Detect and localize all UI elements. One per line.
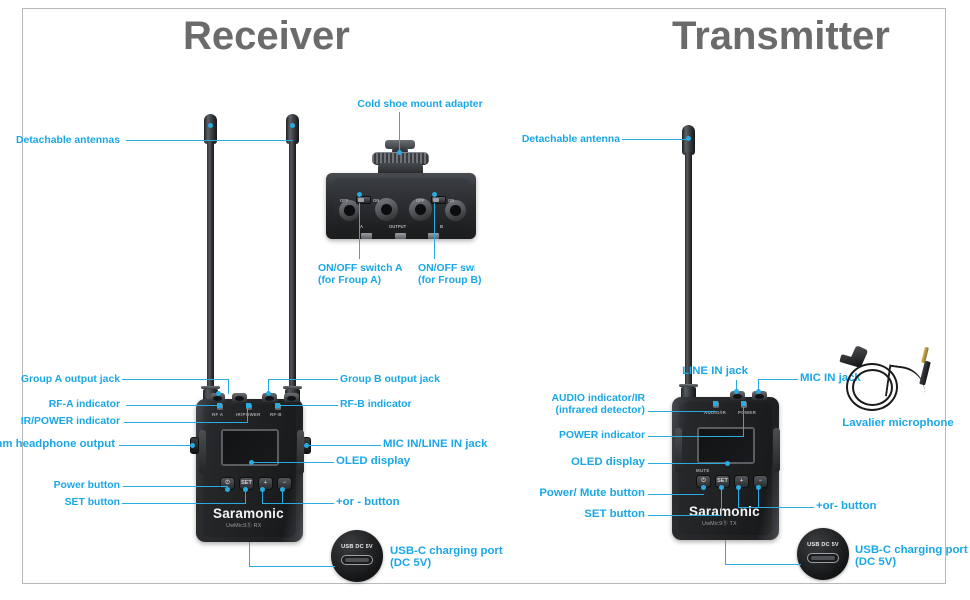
transmitter-print-mute: MUTE bbox=[696, 468, 710, 473]
receiver-antenna-left-rod bbox=[207, 140, 214, 390]
dot-antenna-left bbox=[208, 123, 213, 128]
dot-minus-button bbox=[280, 487, 285, 492]
dot-oled-transmitter bbox=[725, 461, 730, 466]
callout-ir-power-indicator: IR/POWER indicator bbox=[0, 416, 120, 428]
leader-power-mute bbox=[648, 494, 704, 495]
dot-ir-power-indicator bbox=[246, 403, 251, 408]
callout-audio-ir-line1: AUDIO indicator/IR bbox=[480, 393, 645, 405]
callout-detachable-antennas: Detachable antennas bbox=[0, 135, 120, 147]
leader-oled-transmitter bbox=[648, 463, 728, 464]
panel-print-on-b: ON bbox=[448, 198, 454, 203]
leader-detachable-antenna bbox=[622, 139, 688, 140]
leader-power-indicator-h bbox=[648, 436, 744, 437]
dot-antenna-right bbox=[290, 123, 295, 128]
callout-switch-a-line2: (for Froup A) bbox=[318, 275, 381, 287]
dot-group-b-jack bbox=[266, 391, 271, 396]
callout-rf-a-indicator: RF-A indicator bbox=[0, 399, 120, 411]
receiver-print-rf-b: RF-B bbox=[270, 412, 282, 417]
leader-plusminus-h bbox=[262, 503, 334, 504]
leader-cold-shoe bbox=[399, 112, 400, 154]
receiver-left-rail bbox=[199, 430, 206, 474]
callout-headphone-output: 3.5mm headphone output bbox=[0, 439, 115, 451]
leader-set-transmitter-h bbox=[648, 515, 722, 516]
transmitter-usb-c-badge: USB DC 5V bbox=[797, 528, 849, 580]
panel-foot-center bbox=[395, 233, 406, 239]
dot-headphone-jack bbox=[190, 443, 195, 448]
lavalier-plug-body bbox=[919, 361, 931, 386]
callout-audio-ir-line2: (infrared detector) bbox=[480, 405, 645, 417]
leader-mic-in-h bbox=[758, 379, 798, 380]
leader-plusminus-tx-v2 bbox=[758, 488, 759, 508]
leader-power-indicator-v bbox=[743, 407, 744, 437]
leader-set-transmitter-v bbox=[721, 488, 722, 516]
dot-switch-b bbox=[432, 192, 437, 197]
leader-group-b-h bbox=[268, 379, 338, 380]
transmitter-print-power: POWER bbox=[738, 410, 756, 415]
leader-usb-receiver-h bbox=[249, 566, 335, 567]
dot-group-a-jack bbox=[216, 391, 221, 396]
callout-rf-b-indicator: RF-B indicator bbox=[340, 399, 412, 411]
receiver-usb-c-badge: USB DC 5V bbox=[331, 530, 383, 582]
transmitter-left-rail bbox=[675, 428, 682, 472]
lavalier-microphone-image bbox=[838, 345, 958, 423]
transmitter-oled-display bbox=[697, 427, 755, 464]
panel-foot-left bbox=[361, 233, 372, 239]
leader-headphone bbox=[119, 445, 194, 446]
leader-group-a-h bbox=[122, 379, 229, 380]
callout-usb-port-receiver-line1: USB-C charging port bbox=[390, 546, 503, 558]
dot-set-button bbox=[243, 487, 248, 492]
leader-usb-transmitter-v bbox=[725, 540, 726, 565]
callout-plus-minus-button-transmitter: +or- button bbox=[816, 501, 876, 513]
callout-set-button-transmitter: SET button bbox=[510, 509, 645, 521]
panel-print-output: OUTPUT bbox=[389, 224, 406, 229]
panel-print-off-a: OFF bbox=[340, 198, 348, 203]
transmitter-model-print: UwMic9Ⓢ TX bbox=[702, 519, 737, 527]
dot-oled-receiver bbox=[249, 460, 254, 465]
transmitter-antenna-rod bbox=[685, 151, 692, 388]
dot-minus-button-transmitter bbox=[756, 485, 761, 490]
page-title-receiver: Receiver bbox=[183, 14, 350, 59]
callout-group-a-output-jack: Group A output jack bbox=[0, 374, 120, 386]
receiver-model-print: UwMic9Ⓢ RX bbox=[226, 521, 262, 529]
panel-print-a: A bbox=[360, 224, 363, 229]
callout-line-in-jack: LINE IN jack bbox=[655, 366, 775, 378]
callout-usb-port-receiver-line2: (DC 5V) bbox=[390, 558, 431, 570]
dot-power-mute-button bbox=[701, 485, 706, 490]
callout-usb-port-transmitter-line1: USB-C charging port bbox=[855, 545, 968, 557]
leader-rf-a bbox=[126, 405, 219, 406]
leader-switch-a bbox=[359, 203, 360, 259]
dot-set-button-transmitter bbox=[719, 485, 724, 490]
callout-set-button: SET button bbox=[0, 497, 120, 509]
dot-power-button bbox=[225, 487, 230, 492]
usb-badge-print-receiver: USB DC 5V bbox=[331, 544, 383, 550]
callout-mic-line-in-jack: MIC IN/LINE IN jack bbox=[383, 439, 487, 451]
receiver-group-b-output-jack-2[interactable] bbox=[284, 393, 299, 402]
usb-badge-print-transmitter: USB DC 5V bbox=[797, 542, 849, 548]
dot-audio-ir-indicator bbox=[713, 401, 718, 406]
receiver-right-rail bbox=[297, 430, 304, 474]
leader-plusminus-v2 bbox=[282, 490, 283, 504]
transmitter-oled-screen bbox=[699, 429, 753, 462]
dot-line-in-jack bbox=[734, 389, 739, 394]
callout-switch-b-line2: (for Froup B) bbox=[418, 275, 481, 287]
receiver-brand-logo: Saramonic bbox=[213, 506, 284, 521]
callout-power-button: Power button bbox=[0, 480, 120, 492]
dot-rf-b-indicator bbox=[275, 403, 280, 408]
leader-audio-ir bbox=[648, 411, 716, 412]
dot-mic-line-in-jack bbox=[304, 443, 309, 448]
leader-rf-b bbox=[280, 405, 338, 406]
leader-plusminus-tx-h bbox=[738, 507, 814, 508]
callout-plus-minus-button-receiver: +or - button bbox=[336, 497, 400, 509]
callout-usb-port-transmitter-line2: (DC 5V) bbox=[855, 557, 896, 569]
transmitter-usb-c-port[interactable] bbox=[807, 553, 839, 563]
leader-ir-power-v bbox=[247, 408, 248, 423]
receiver-print-rf-a: RF A bbox=[212, 412, 223, 417]
leader-usb-transmitter-h bbox=[725, 564, 801, 565]
receiver-antenna-right-rod bbox=[289, 140, 296, 390]
receiver-oled-screen bbox=[223, 431, 277, 464]
dot-cold-shoe bbox=[397, 150, 402, 155]
dot-plus-button bbox=[260, 487, 265, 492]
callout-cold-shoe-mount: Cold shoe mount adapter bbox=[300, 99, 540, 111]
leader-oled-receiver bbox=[252, 462, 334, 463]
dot-plus-button-transmitter bbox=[736, 485, 741, 490]
callout-oled-display-transmitter: OLED display bbox=[500, 457, 645, 469]
dot-transmitter-antenna bbox=[686, 136, 691, 141]
leader-power-button bbox=[123, 486, 228, 487]
callout-switch-a-line1: ON/OFF switch A bbox=[318, 263, 402, 275]
receiver-usb-c-port[interactable] bbox=[341, 555, 373, 565]
dot-mic-in-jack bbox=[756, 389, 761, 394]
product-diagram-canvas: Receiver Transmitter Detachable antennas… bbox=[0, 0, 970, 600]
callout-group-b-output-jack: Group B output jack bbox=[340, 374, 440, 386]
callout-oled-display-receiver: OLED display bbox=[336, 456, 410, 468]
dot-rf-a-indicator bbox=[217, 403, 222, 408]
callout-power-indicator: POWER indicator bbox=[490, 430, 645, 442]
receiver-group-a-output-jack-2[interactable] bbox=[232, 393, 247, 402]
leader-group-a-v bbox=[228, 379, 229, 394]
leader-switch-b bbox=[434, 203, 435, 259]
leader-detachable-antennas bbox=[126, 140, 293, 141]
leader-mic-line-in bbox=[308, 445, 381, 446]
leader-usb-receiver-v bbox=[249, 542, 250, 567]
panel-output-jack-b-right[interactable] bbox=[445, 200, 466, 221]
leader-ir-power-h bbox=[124, 422, 248, 423]
leader-plusminus-tx-v1 bbox=[738, 488, 739, 508]
dot-switch-a bbox=[357, 192, 362, 197]
leader-plusminus-v1 bbox=[262, 490, 263, 504]
callout-lavalier-microphone: Lavalier microphone bbox=[838, 418, 958, 430]
dot-power-indicator bbox=[741, 401, 746, 406]
callout-power-mute-button: Power/ Mute button bbox=[480, 488, 645, 500]
panel-print-on-a: ON bbox=[373, 198, 379, 203]
transmitter-right-rail bbox=[773, 428, 780, 472]
callout-switch-b-line1: ON/OFF switch B bbox=[418, 263, 475, 275]
leader-set-button-v bbox=[245, 490, 246, 504]
page-title-transmitter: Transmitter bbox=[672, 14, 890, 59]
leader-set-button-h bbox=[122, 503, 246, 504]
panel-print-b: B bbox=[440, 224, 443, 229]
panel-print-off-b: OFF bbox=[416, 198, 424, 203]
callout-detachable-antenna: Detachable antenna bbox=[450, 134, 620, 146]
